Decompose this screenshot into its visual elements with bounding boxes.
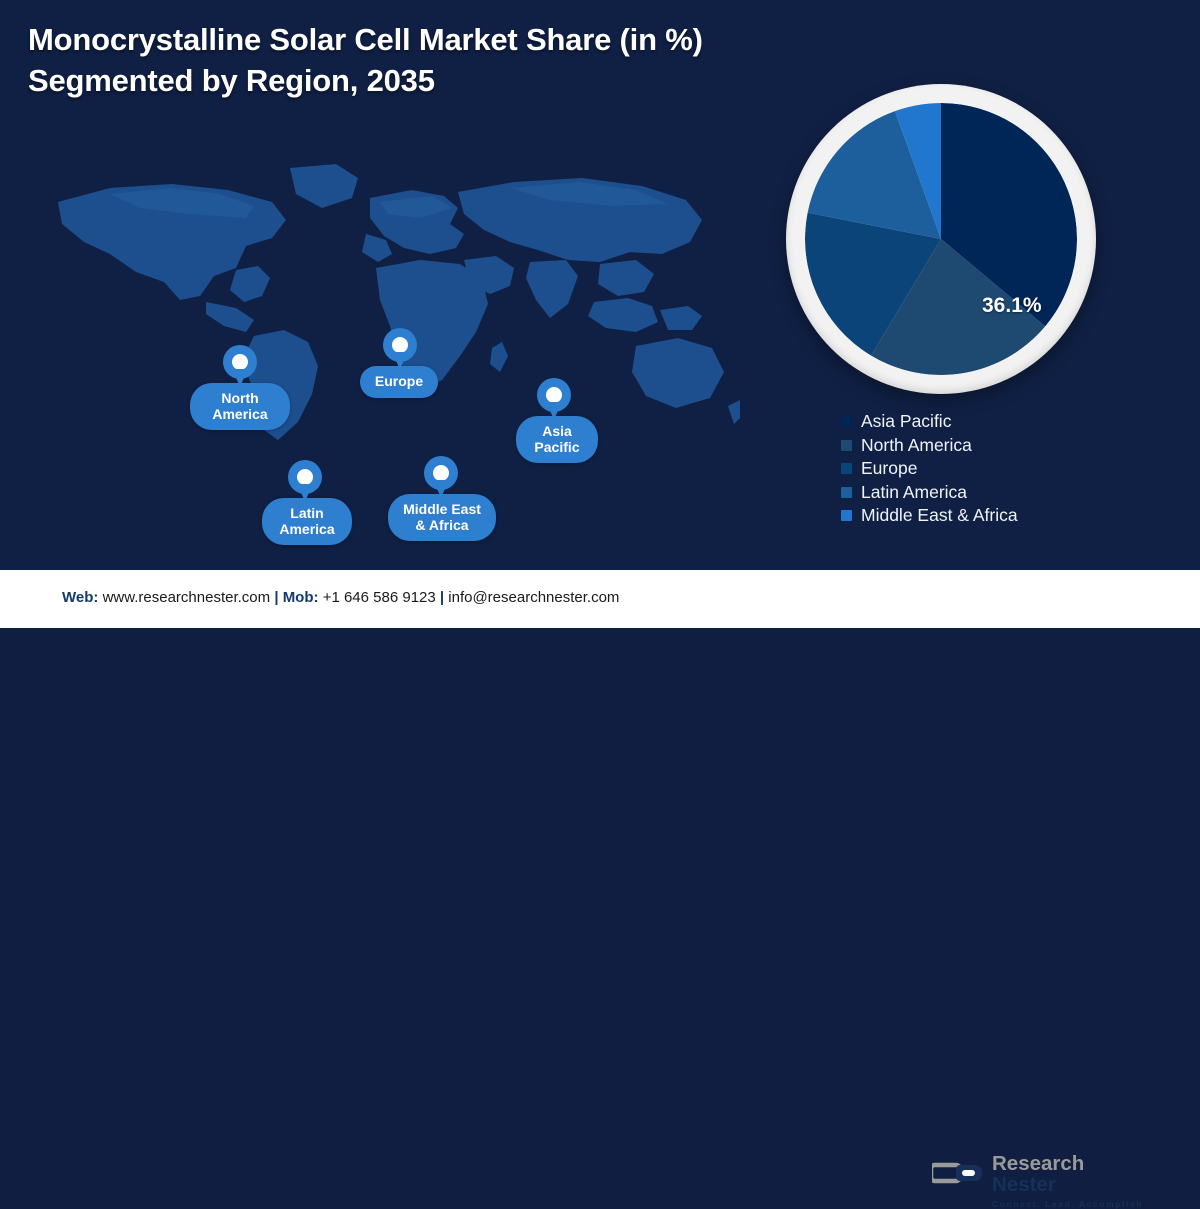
footer-separator: |: [274, 589, 278, 606]
pie-slice-label-asia-pacific: 36.1%: [982, 294, 1042, 318]
logo-tagline: Connect. Lead. Accomplish: [992, 1199, 1144, 1209]
world-map-svg: [40, 150, 740, 450]
map-marker-middle-east-africa[interactable]: Middle East & Africa: [388, 456, 494, 541]
footer-web-value[interactable]: www.researchnester.com: [103, 589, 271, 606]
logo-name-second: Nester: [992, 1173, 1056, 1196]
legend-label: Europe: [861, 460, 917, 478]
footer-contact-info: Web: www.researchnester.com | Mob: +1 64…: [62, 589, 619, 606]
logo-link-icon: [932, 1158, 984, 1188]
legend-item-europe[interactable]: Europe: [841, 457, 1018, 481]
legend-swatch-icon: [841, 440, 852, 451]
footer-web-label: Web:: [62, 589, 98, 606]
footer-bar: Web: www.researchnester.com | Mob: +1 64…: [0, 570, 1200, 628]
legend-item-middle-east-africa[interactable]: Middle East & Africa: [841, 504, 1018, 528]
chart-legend: Asia Pacific North America Europe Latin …: [841, 410, 1018, 528]
map-marker-europe[interactable]: Europe: [360, 328, 440, 398]
legend-swatch-icon: [841, 416, 852, 427]
infographic-canvas: Monocrystalline Solar Cell Market Share …: [0, 0, 1200, 628]
map-pin-icon: [223, 345, 257, 389]
legend-swatch-icon: [841, 463, 852, 474]
legend-item-latin-america[interactable]: Latin America: [841, 481, 1018, 505]
legend-label: North America: [861, 437, 972, 455]
map-marker-asia-pacific[interactable]: Asia Pacific: [516, 378, 592, 463]
map-marker-north-america[interactable]: North America: [190, 345, 290, 430]
logo-name: Research Nester: [992, 1154, 1144, 1195]
legend-swatch-icon: [841, 487, 852, 498]
legend-swatch-icon: [841, 510, 852, 521]
legend-item-asia-pacific[interactable]: Asia Pacific: [841, 410, 1018, 434]
legend-item-north-america[interactable]: North America: [841, 434, 1018, 458]
legend-label: Asia Pacific: [861, 413, 951, 431]
footer-mob-value: +1 646 586 9123: [323, 589, 436, 606]
footer-separator: |: [440, 589, 444, 606]
map-marker-label-asia-pacific: Asia Pacific: [516, 416, 598, 463]
page-title-line1: Monocrystalline Solar Cell Market Share …: [28, 20, 828, 61]
map-marker-label-north-america: North America: [190, 383, 290, 430]
page-title-line2: Segmented by Region, 2035: [28, 61, 828, 102]
research-nester-logo[interactable]: Research Nester Connect. Lead. Accomplis…: [932, 1154, 1144, 1194]
map-pin-icon: [424, 456, 458, 500]
pie-chart: 36.1%: [786, 84, 1096, 394]
map-pin-icon: [537, 378, 571, 422]
legend-label: Latin America: [861, 484, 967, 502]
world-map: North America Europe Asia Pacific Latin …: [40, 150, 740, 450]
map-marker-latin-america[interactable]: Latin America: [262, 460, 348, 545]
map-pin-icon: [288, 460, 322, 504]
logo-text: Research Nester Connect. Lead. Accomplis…: [992, 1154, 1144, 1209]
legend-label: Middle East & Africa: [861, 507, 1018, 525]
footer-mob-label: Mob:: [283, 589, 319, 606]
map-marker-label-middle-east-africa: Middle East & Africa: [388, 494, 496, 541]
footer-email[interactable]: info@researchnester.com: [448, 589, 619, 606]
map-marker-label-latin-america: Latin America: [262, 498, 352, 545]
pie-chart-svg: [805, 103, 1077, 375]
pie-chart-slices: [805, 103, 1077, 375]
page-title: Monocrystalline Solar Cell Market Share …: [28, 20, 828, 102]
map-pin-icon: [383, 328, 417, 372]
